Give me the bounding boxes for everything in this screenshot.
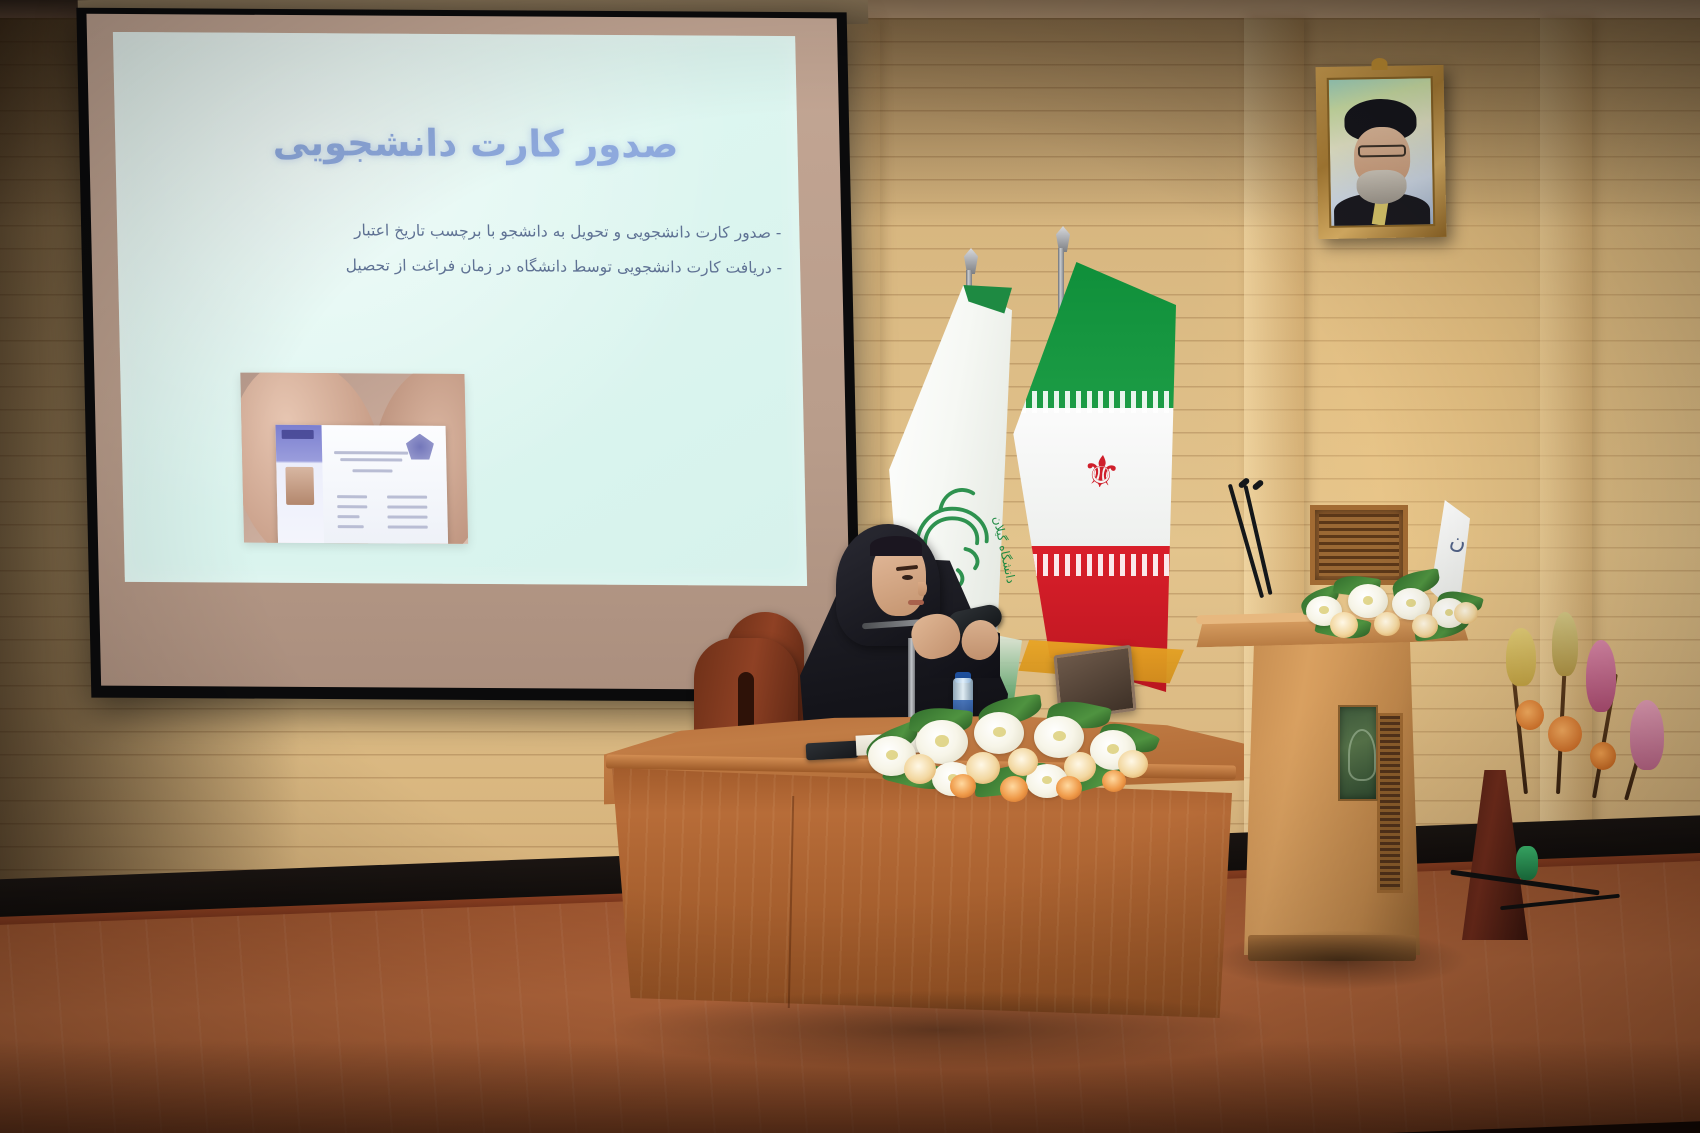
dried-bloom-yellow xyxy=(1552,612,1578,676)
lectern-side-grille xyxy=(1377,713,1403,893)
student-id-card xyxy=(275,425,448,544)
dried-bloom-orange xyxy=(1548,716,1582,752)
slide-title: صدور کارت دانشجویی xyxy=(195,120,756,166)
card-text-line xyxy=(387,515,427,518)
rose-flower xyxy=(1454,602,1478,624)
orange-rose-flower xyxy=(1102,770,1126,792)
podium-flower-arrangement xyxy=(1296,562,1486,646)
dried-bloom-orange xyxy=(1590,742,1616,770)
lectern-floor-shadow xyxy=(1210,930,1470,990)
green-light-glow xyxy=(1516,846,1538,880)
portrait-glasses-icon xyxy=(1358,144,1406,157)
presenter-desk-front xyxy=(612,768,1232,1018)
slide-bullet-2: - دریافت کارت دانشجویی توسط دانشگاه در ز… xyxy=(182,247,783,286)
presentation-slide: صدور کارت دانشجویی - صدور کارت دانشجویی … xyxy=(113,32,807,586)
dried-bloom-pink xyxy=(1630,700,1664,770)
card-text-line xyxy=(387,505,427,508)
lectern-decorative-panel xyxy=(1338,705,1378,801)
presenter-nose xyxy=(918,582,927,596)
card-text-line xyxy=(388,525,428,528)
rose-flower xyxy=(1412,614,1438,638)
frame-hook-ornament xyxy=(1371,58,1387,70)
presenter-eye xyxy=(902,575,913,580)
framed-portrait xyxy=(1316,65,1447,239)
desk-floor-shadow xyxy=(600,990,1280,1070)
lily-flower xyxy=(974,712,1024,754)
slide-photo-student-id xyxy=(240,373,468,544)
desk-flower-arrangement xyxy=(858,690,1158,800)
iran-emblem-icon: ⚜ xyxy=(1071,448,1132,500)
flag-kufic-script-top xyxy=(1010,391,1176,413)
card-text-line xyxy=(338,525,364,528)
dried-bloom-yellow xyxy=(1506,628,1536,686)
card-text-line xyxy=(337,505,367,508)
projection-screen: صدور کارت دانشجویی - صدور کارت دانشجویی … xyxy=(76,8,861,703)
slide-bullet-1: - صدور کارت دانشجویی و تحویل به دانشجو ب… xyxy=(181,212,782,251)
portrait-beard xyxy=(1356,169,1407,204)
conference-hall-photo: صدور کارت دانشجویی - صدور کارت دانشجویی … xyxy=(0,0,1700,1133)
desk-wood-grain xyxy=(612,768,1232,1018)
card-logo xyxy=(282,430,314,439)
card-portrait-photo xyxy=(285,467,314,505)
card-text-line xyxy=(352,469,392,472)
orange-rose-flower xyxy=(1056,776,1082,800)
card-text-line xyxy=(334,451,408,454)
mobile-phone xyxy=(806,741,859,761)
dried-bloom-orange xyxy=(1516,700,1544,730)
card-text-line xyxy=(340,458,402,461)
rose-flower xyxy=(1374,612,1400,636)
card-text-line xyxy=(337,515,359,518)
orange-rose-flower xyxy=(950,774,976,798)
portrait-image xyxy=(1327,76,1436,228)
card-text-line xyxy=(337,495,367,498)
orange-rose-flower xyxy=(1000,776,1028,802)
dried-bloom-pink xyxy=(1586,640,1616,712)
slide-bullets: - صدور کارت دانشجویی و تحویل به دانشجو ب… xyxy=(181,212,783,285)
rose-flower xyxy=(1330,612,1358,638)
presenter-hair xyxy=(870,536,922,556)
rose-flower xyxy=(904,754,936,784)
card-text-line xyxy=(387,495,427,498)
presenter-lips xyxy=(908,600,924,605)
rose-flower xyxy=(1008,748,1038,776)
card-emblem-icon xyxy=(406,434,435,460)
screen-surface: صدور کارت دانشجویی - صدور کارت دانشجویی … xyxy=(86,14,851,690)
